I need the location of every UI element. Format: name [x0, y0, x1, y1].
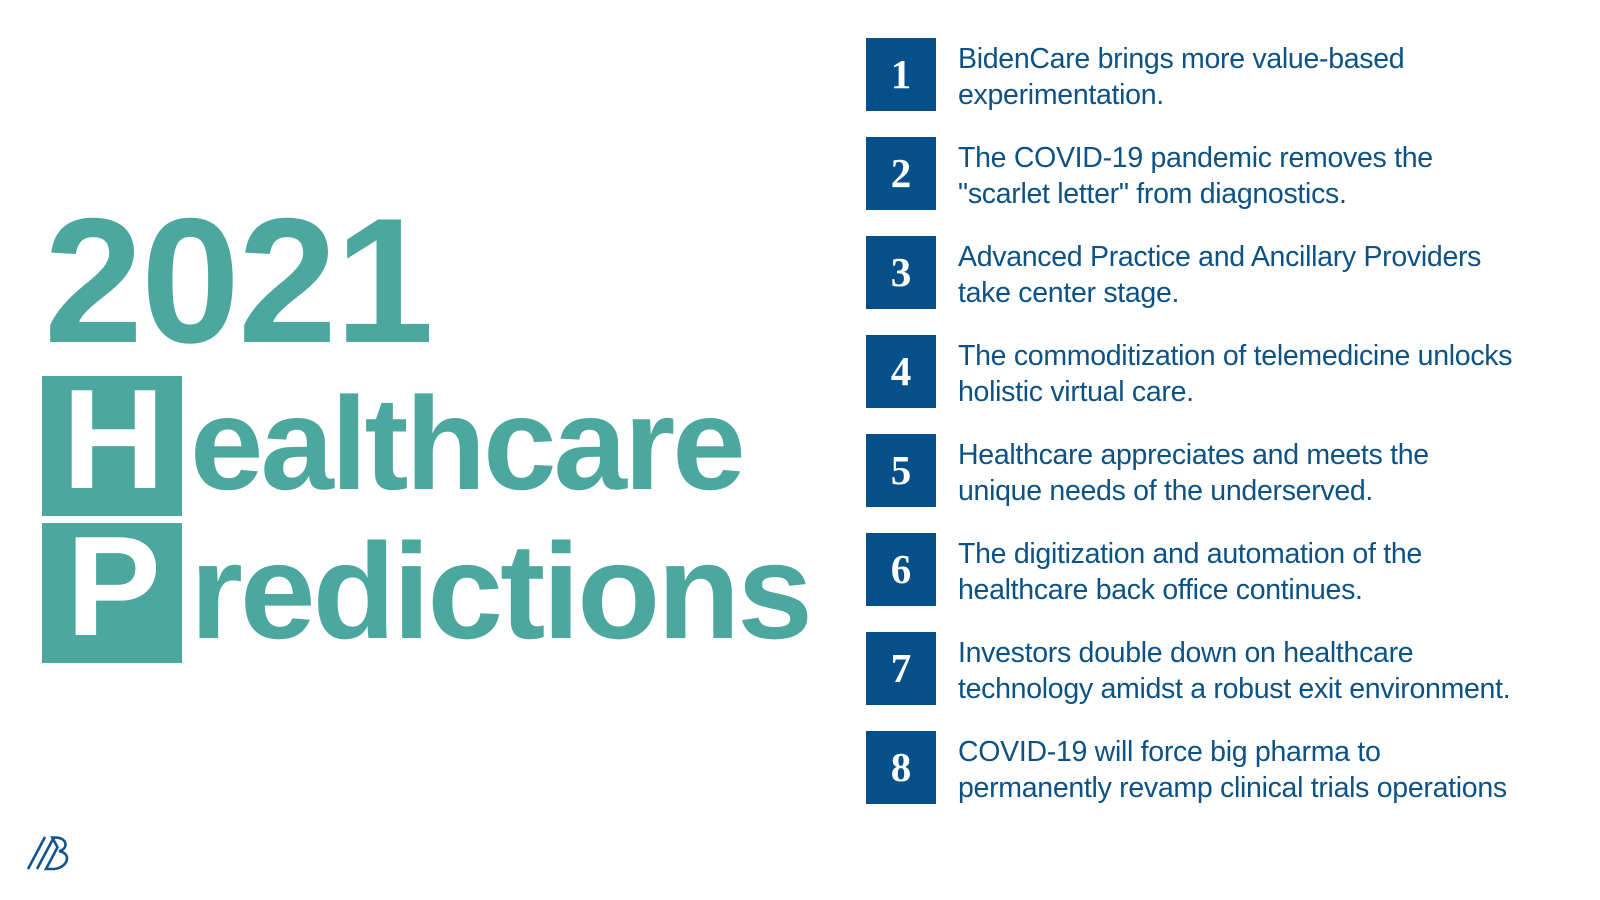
- prediction-text: BidenCare brings more value-based experi…: [958, 38, 1404, 113]
- predictions-list: 1 BidenCare brings more value-based expe…: [866, 38, 1566, 806]
- page-title-year: 2021: [44, 196, 862, 366]
- list-item: 4 The commoditization of telemedicine un…: [866, 335, 1566, 410]
- prediction-number: 1: [891, 54, 912, 95]
- headline-text-predictions: redictions: [190, 521, 810, 661]
- prediction-number: 5: [891, 450, 912, 491]
- prediction-number: 7: [891, 648, 912, 689]
- brand-logo-icon: [25, 823, 73, 873]
- prediction-number-badge: 4: [866, 335, 936, 408]
- list-item: 5 Healthcare appreciates and meets the u…: [866, 434, 1566, 509]
- prediction-number-badge: 3: [866, 236, 936, 309]
- prediction-number: 8: [891, 747, 912, 788]
- prediction-number-badge: 6: [866, 533, 936, 606]
- prediction-number-badge: 1: [866, 38, 936, 111]
- list-item: 7 Investors double down on healthcare te…: [866, 632, 1566, 707]
- prediction-text: Advanced Practice and Ancillary Provider…: [958, 236, 1481, 311]
- prediction-number-badge: 2: [866, 137, 936, 210]
- headline-line-healthcare: H ealthcare: [42, 376, 862, 516]
- prediction-text: The commoditization of telemedicine unlo…: [958, 335, 1512, 410]
- prediction-text: The digitization and automation of the h…: [958, 533, 1422, 608]
- initial-cap-box-p: P: [42, 523, 182, 663]
- prediction-text: The COVID-19 pandemic removes the "scarl…: [958, 137, 1433, 212]
- prediction-number: 2: [891, 153, 912, 194]
- prediction-number-badge: 8: [866, 731, 936, 804]
- initial-cap-box-h: H: [42, 376, 182, 516]
- list-item: 3 Advanced Practice and Ancillary Provid…: [866, 236, 1566, 311]
- list-item: 2 The COVID-19 pandemic removes the "sca…: [866, 137, 1566, 212]
- list-item: 8 COVID-19 will force big pharma to perm…: [866, 731, 1566, 806]
- headline-line-predictions: P redictions: [42, 523, 862, 663]
- list-item: 6 The digitization and automation of the…: [866, 533, 1566, 608]
- prediction-number-badge: 7: [866, 632, 936, 705]
- poster-canvas: 2021 H ealthcare P redictions: [0, 0, 1600, 900]
- title-block: 2021 H ealthcare P redictions: [42, 196, 862, 670]
- initial-cap-letter-p: P: [66, 517, 158, 657]
- prediction-number: 6: [891, 549, 912, 590]
- list-item: 1 BidenCare brings more value-based expe…: [866, 38, 1566, 113]
- prediction-number: 3: [891, 252, 912, 293]
- prediction-text: Healthcare appreciates and meets the uni…: [958, 434, 1429, 509]
- headline-text-healthcare: ealthcare: [190, 374, 743, 514]
- initial-cap-letter-h: H: [62, 370, 162, 510]
- prediction-text: COVID-19 will force big pharma to perman…: [958, 731, 1507, 806]
- prediction-text: Investors double down on healthcare tech…: [958, 632, 1510, 707]
- prediction-number-badge: 5: [866, 434, 936, 507]
- prediction-number: 4: [891, 351, 912, 392]
